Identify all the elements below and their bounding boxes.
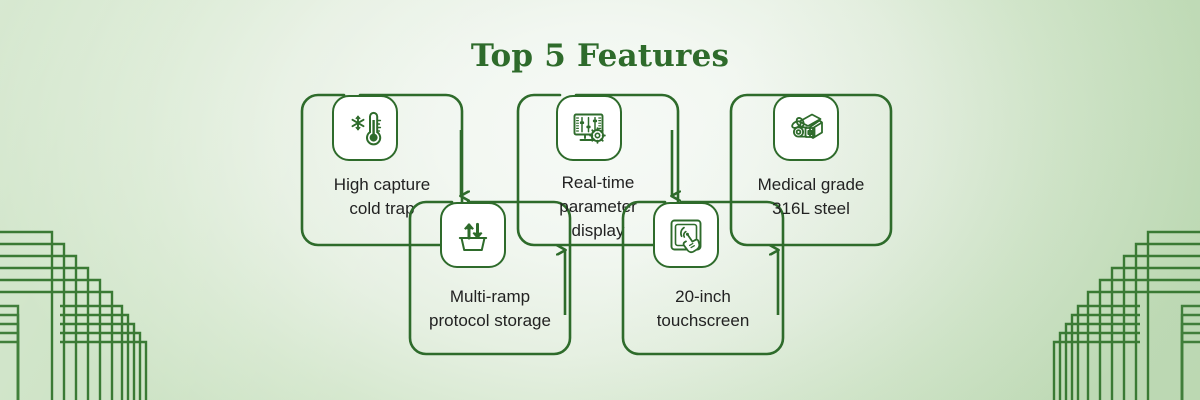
card-4-label-line2: touchscreen [621, 309, 785, 333]
card-3-label-line1: Real-time [516, 171, 680, 195]
card-2-icon-badge [440, 202, 506, 268]
card-4-label-line1: 20-inch [621, 285, 785, 309]
card-2-label-line1: Multi-ramp [408, 285, 572, 309]
touchscreen-tap-icon [665, 214, 707, 256]
card-2-label-line2: protocol storage [408, 309, 572, 333]
card-3-icon-badge [556, 95, 622, 161]
storage-arrows-icon [452, 214, 494, 256]
card-1-label-line1: High capture [300, 173, 464, 197]
card-4-label: 20-inch touchscreen [621, 285, 785, 333]
monitor-sliders-gear-icon [568, 107, 610, 149]
card-4-icon-badge [653, 202, 719, 268]
infographic-canvas: Top 5 Features [0, 0, 1200, 400]
thermometer-snowflake-icon [344, 107, 386, 149]
steel-bars-icon [785, 107, 827, 149]
page-title: Top 5 Features [0, 38, 1200, 74]
card-1-icon-badge [332, 95, 398, 161]
card-5-label-line1: Medical grade [729, 173, 893, 197]
corner-decoration-left [0, 220, 150, 400]
card-2-label: Multi-ramp protocol storage [408, 285, 572, 333]
card-5-label-line2: 316L steel [729, 197, 893, 221]
card-5-label: Medical grade 316L steel [729, 173, 893, 221]
card-5-icon-badge [773, 95, 839, 161]
corner-decoration-right [1050, 220, 1200, 400]
